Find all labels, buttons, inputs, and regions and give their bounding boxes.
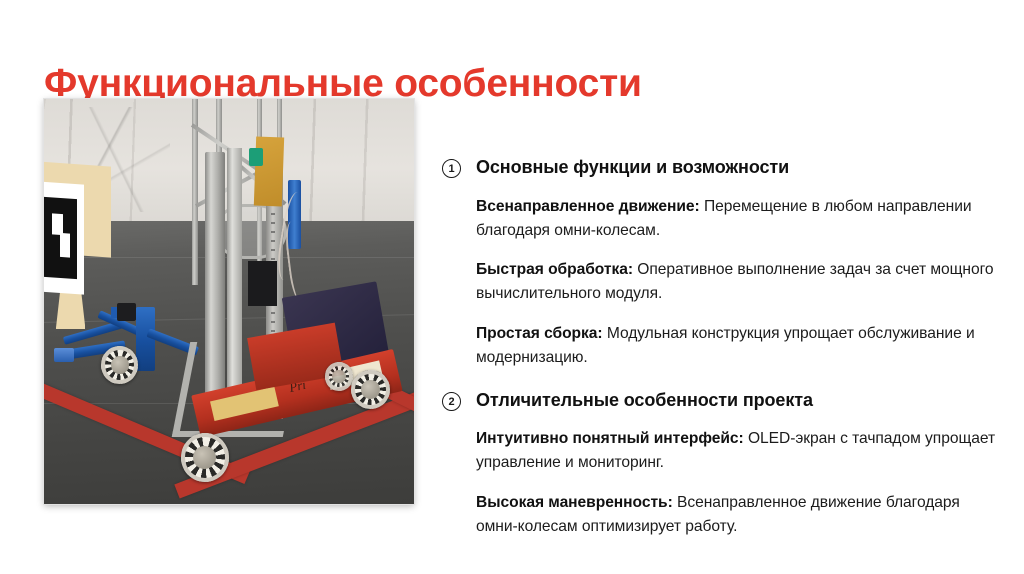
arm-servo-motor (117, 303, 136, 321)
feature-term: Интуитивно понятный интерфейс: (476, 430, 744, 447)
robot-cable (283, 220, 313, 303)
section-number-badge: 1 (442, 159, 461, 178)
feature-section-1: 1 Основные функции и возможности Всенапр… (442, 156, 1002, 370)
robot-green-sensor (249, 148, 262, 167)
feature-section-2: 2 Отличительные особенности проекта Инту… (442, 389, 1002, 539)
feature-item: Быстрая обработка: Оперативное выполнени… (476, 258, 1002, 306)
feature-item: Всенаправленное движение: Перемещение в … (476, 195, 1002, 243)
section-heading: Основные функции и возможности (476, 156, 1002, 179)
features-content: 1 Основные функции и возможности Всенапр… (442, 156, 1002, 555)
robot-assembly: Pri (44, 99, 414, 504)
feature-term: Простая сборка: (476, 325, 603, 342)
section-heading: Отличительные особенности проекта (476, 389, 1002, 412)
arm-gripper (54, 348, 74, 362)
feature-item: Высокая маневренность: Всенаправленное д… (476, 491, 1002, 539)
section-number-badge: 2 (442, 392, 461, 411)
robot-photo-frame: Pri (44, 99, 414, 504)
omni-wheel (325, 362, 353, 390)
feature-item: Интуитивно понятный интерфейс: OLED-экра… (476, 427, 1002, 475)
slide-root: Функциональные особенности (0, 0, 1024, 574)
chassis-label-left (209, 386, 278, 420)
section-body: Отличительные особенности проекта Интуит… (442, 389, 1002, 539)
omni-wheel (181, 433, 229, 482)
feature-term: Быстрая обработка: (476, 261, 633, 278)
robot-battery (248, 261, 278, 306)
feature-item: Простая сборка: Модульная конструкция уп… (476, 322, 1002, 370)
omni-wheel (101, 346, 138, 384)
section-body: Основные функции и возможности Всенаправ… (442, 156, 1002, 370)
robot-photo: Pri (44, 99, 414, 504)
omni-wheel (351, 370, 390, 409)
feature-term: Высокая маневренность: (476, 494, 673, 511)
feature-term: Всенаправленное движение: (476, 198, 700, 215)
